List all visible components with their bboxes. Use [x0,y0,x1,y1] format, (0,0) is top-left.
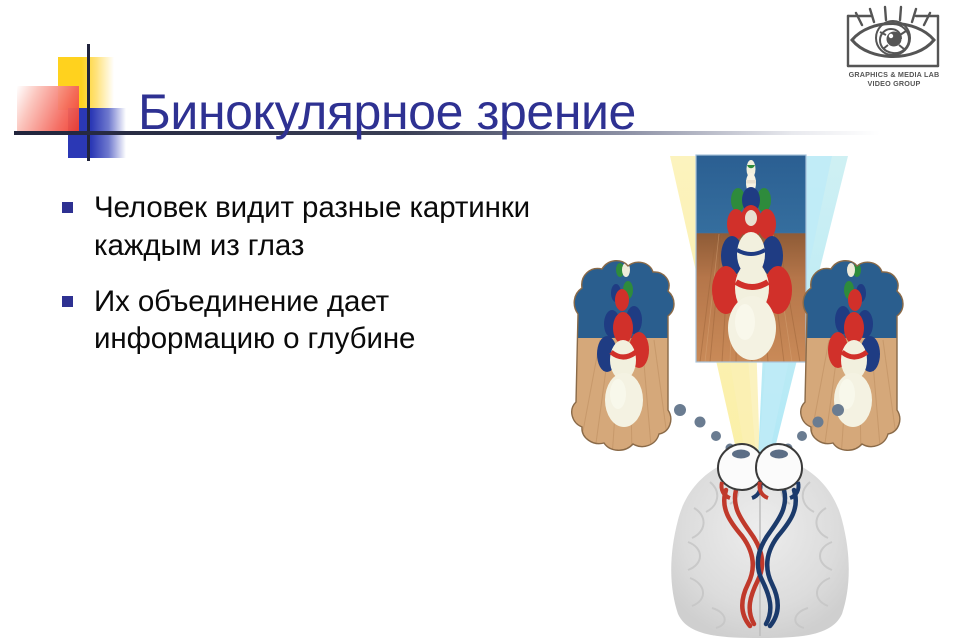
logo-line-1: GRAPHICS & MEDIA LAB [838,70,950,79]
square-bullet-icon [62,202,73,213]
title-underline-left-mask [0,131,14,135]
logo-text: GRAPHICS & MEDIA LAB VIDEO GROUP [838,70,950,88]
list-item: Их объединение дает информацию о глубине [62,283,562,359]
left-retinal-image [568,256,680,458]
list-item: Человек видит разные картинки каждым из … [62,189,562,265]
graphics-media-lab-logo: GRAPHICS & MEDIA LAB VIDEO GROUP [838,4,950,102]
logo-line-2: VIDEO GROUP [838,79,950,88]
pin-nearest [728,296,776,360]
bullet-text: Человек видит разные картинки каждым из … [94,189,562,265]
right-retinal-image [797,256,909,458]
decor-red-square [17,86,79,133]
binocular-vision-diagram [560,138,960,640]
bullet-list: Человек видит разные картинки каждым из … [62,189,562,376]
bowling-lane-scene [696,155,806,362]
decor-vertical-line [87,44,90,161]
brain-top-view [671,444,849,638]
page-title: Бинокулярное зрение [138,87,838,137]
bullet-text: Их объединение дает информацию о глубине [94,283,562,359]
square-bullet-icon [62,296,73,307]
slide-root: GRAPHICS & MEDIA LAB VIDEO GROUP Бинокул… [0,0,960,640]
